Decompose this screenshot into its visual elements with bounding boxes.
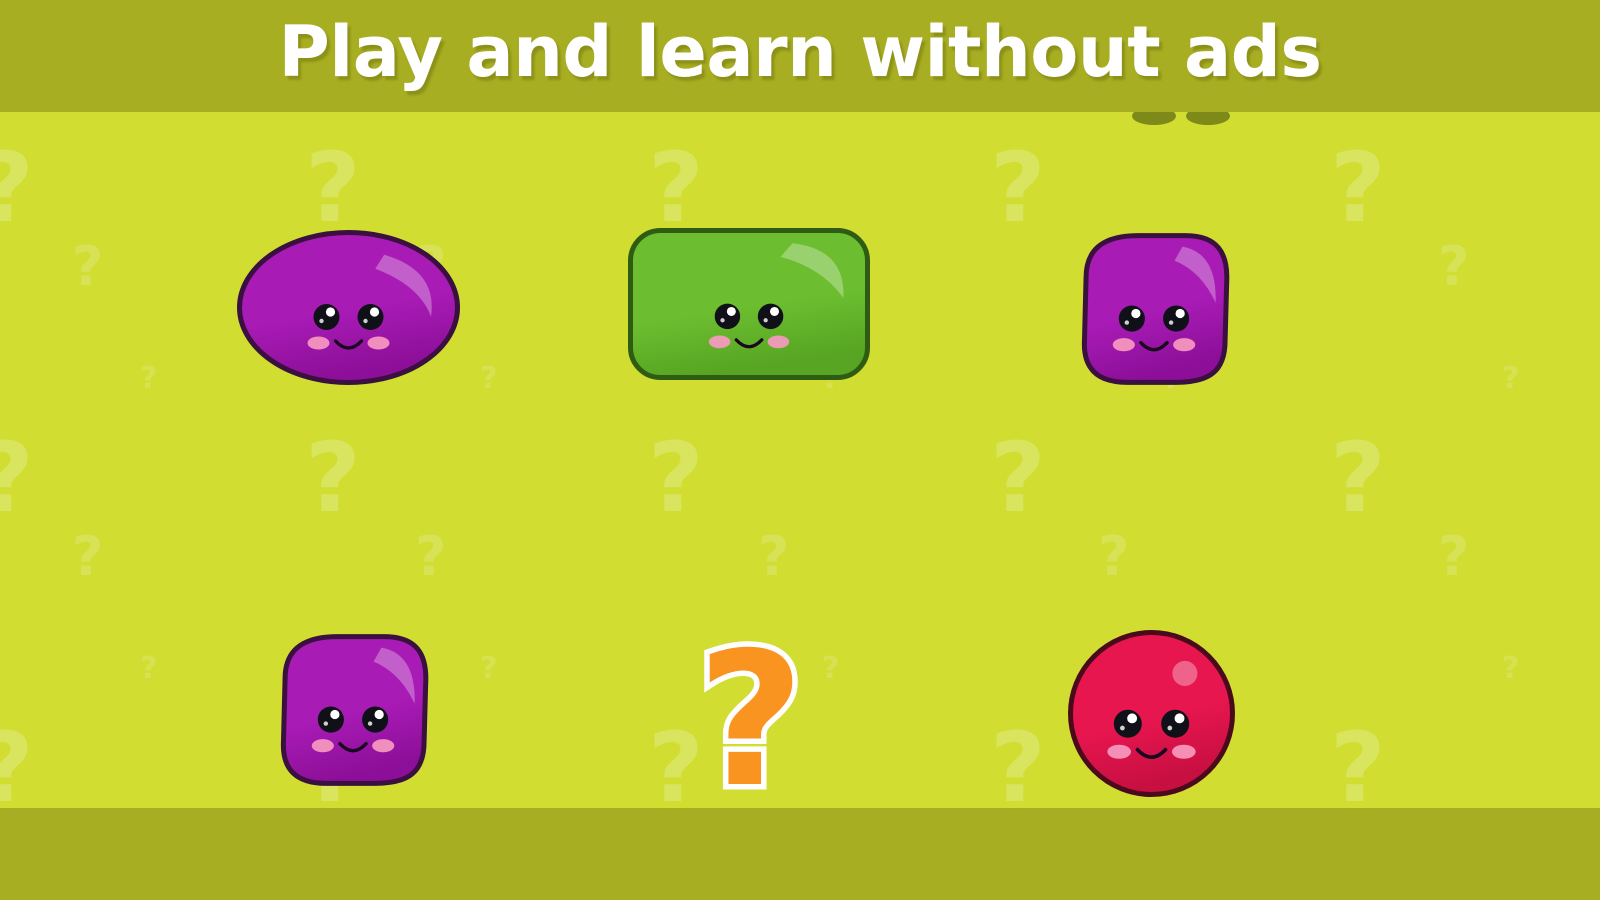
eye-highlight-left — [1131, 309, 1140, 318]
eye-highlight-right — [1175, 713, 1185, 723]
blush-left — [709, 335, 731, 348]
eye-sparkle-right — [363, 319, 367, 323]
eye-highlight-left — [330, 710, 339, 719]
partially-hidden-card-top[interactable] — [1120, 112, 1240, 139]
card-purple-squircle-bottom[interactable] — [274, 632, 432, 788]
memory-game-board: ??????????????????????????????????? — [0, 112, 1600, 808]
blush-right — [372, 739, 394, 752]
question-mark-icon: ? — [1330, 430, 1386, 526]
card-body[interactable] — [631, 231, 868, 378]
question-mark-icon[interactable]: ?? — [697, 628, 804, 808]
question-mark-icon: ? — [1330, 140, 1386, 236]
eye-sparkle-right — [1167, 726, 1172, 731]
question-mark-icon: ? — [1330, 720, 1386, 808]
eye-left — [314, 304, 340, 330]
card-body[interactable] — [1071, 633, 1233, 795]
eye-sparkle-left — [324, 721, 328, 725]
card-hidden-mystery[interactable]: ?? — [697, 628, 817, 788]
question-mark-icon: ? — [758, 530, 789, 584]
blush-left — [1107, 745, 1131, 759]
question-mark-icon: ? — [480, 364, 497, 394]
bottom-banner-band — [0, 808, 1600, 900]
eye-sparkle-right — [764, 318, 768, 322]
page-title: Play and learn without ads — [0, 0, 1600, 112]
question-mark-icon: ? — [480, 654, 497, 684]
question-mark-icon: ? — [140, 654, 157, 684]
question-mark-icon: ? — [990, 720, 1046, 808]
eye-right — [758, 304, 783, 329]
question-mark-icon: ? — [140, 364, 157, 394]
question-mark-icon: ? — [415, 530, 446, 584]
question-mark-icon: ? — [72, 530, 103, 584]
question-mark-icon: ? — [72, 240, 103, 294]
question-mark-icon: ? — [990, 430, 1046, 526]
blush-left — [1113, 338, 1135, 351]
question-mark-icon: ? — [648, 140, 704, 236]
question-mark-icon: ? — [305, 430, 361, 526]
eye-sparkle-left — [1120, 726, 1125, 731]
eye-right — [358, 304, 384, 330]
eye-sparkle-left — [1125, 320, 1129, 324]
blush-left — [308, 337, 330, 350]
app-screen: ??????????????????????????????????? — [0, 0, 1600, 900]
eye-sparkle-right — [368, 721, 372, 725]
card-body[interactable] — [240, 233, 458, 383]
eye-left — [318, 706, 344, 732]
eye-right — [1163, 305, 1189, 331]
eye-sparkle-left — [720, 318, 724, 322]
card-green-rounded-rect[interactable] — [628, 228, 870, 380]
eye-sparkle-left — [319, 319, 323, 323]
eye-left — [1114, 710, 1142, 738]
question-mark-icon: ? — [1438, 530, 1469, 584]
eye-highlight-left — [326, 307, 335, 316]
card-purple-ellipse[interactable] — [237, 230, 460, 385]
blush-right — [368, 337, 390, 350]
question-mark-icon: ? — [648, 430, 704, 526]
question-mark-icon: ? — [1502, 364, 1519, 394]
question-mark-fill: ? — [697, 612, 804, 808]
question-mark-icon: ? — [1438, 240, 1469, 294]
eye-left — [1119, 305, 1145, 331]
eye-highlight-right — [770, 307, 779, 316]
question-mark-icon: ? — [0, 430, 34, 526]
blush-right — [1173, 338, 1195, 351]
blush-left — [312, 739, 334, 752]
question-mark-icon: ? — [1502, 654, 1519, 684]
card-purple-squircle-top[interactable] — [1075, 231, 1233, 387]
question-mark-icon: ? — [822, 654, 839, 684]
eye-highlight-left — [1127, 713, 1137, 723]
card-body[interactable] — [283, 637, 425, 784]
question-mark-icon: ? — [990, 140, 1046, 236]
eye-highlight-right — [375, 710, 384, 719]
card-pink-circle[interactable] — [1068, 630, 1235, 797]
eye-highlight-right — [370, 307, 379, 316]
question-mark-icon: ? — [305, 140, 361, 236]
gloss-highlight — [1172, 661, 1197, 686]
card-body[interactable] — [1084, 236, 1226, 383]
blush-right — [1172, 745, 1196, 759]
question-mark-icon: ? — [0, 720, 34, 808]
blush-right — [768, 335, 790, 348]
eye-sparkle-right — [1169, 320, 1173, 324]
eye-left — [715, 304, 740, 329]
eye-right — [362, 706, 388, 732]
question-mark-icon: ? — [648, 720, 704, 808]
eye-right — [1161, 710, 1189, 738]
eye-highlight-right — [1176, 309, 1185, 318]
question-mark-icon: ? — [0, 140, 34, 236]
question-mark-icon: ? — [1098, 530, 1129, 584]
eye-highlight-left — [727, 307, 736, 316]
